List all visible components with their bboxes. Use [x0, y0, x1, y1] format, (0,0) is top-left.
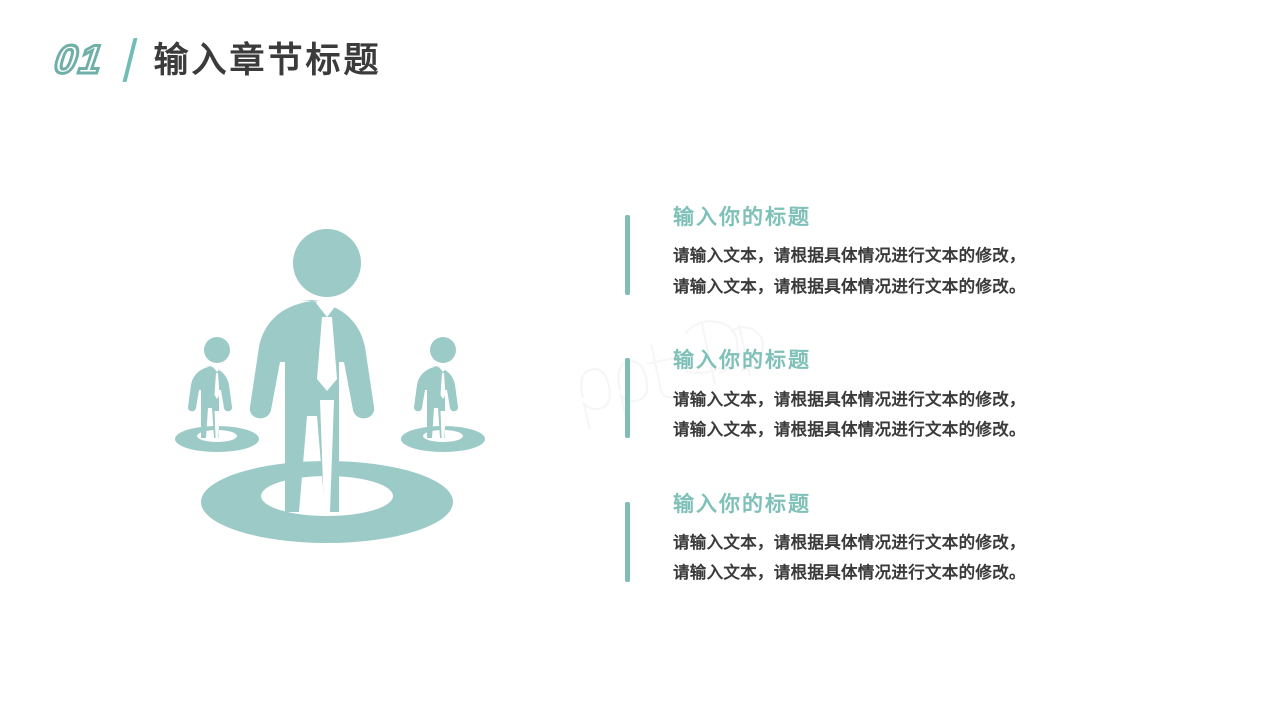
- accent-bar: [625, 358, 630, 438]
- block-heading: 输入你的标题: [673, 205, 1095, 231]
- block-body-line: 请输入文本，请根据具体情况进行文本的修改。: [673, 558, 1095, 589]
- content-block: 输入你的标题 请输入文本，请根据具体情况进行文本的修改， 请输入文本，请根据具体…: [625, 348, 1095, 445]
- header-slash-divider: [122, 38, 137, 82]
- section-number: 01: [52, 40, 106, 80]
- content-column: 输入你的标题 请输入文本，请根据具体情况进行文本的修改， 请输入文本，请根据具体…: [625, 205, 1095, 589]
- block-body-line: 请输入文本，请根据具体情况进行文本的修改，: [673, 528, 1095, 559]
- block-body-line: 请输入文本，请根据具体情况进行文本的修改，: [673, 385, 1095, 416]
- accent-bar: [625, 502, 630, 582]
- block-heading: 输入你的标题: [673, 492, 1095, 518]
- accent-bar: [625, 215, 630, 295]
- content-block: 输入你的标题 请输入文本，请根据具体情况进行文本的修改， 请输入文本，请根据具体…: [625, 492, 1095, 589]
- slide-header: 01 输入章节标题: [55, 30, 382, 90]
- block-body-line: 请输入文本，请根据具体情况进行文本的修改，: [673, 241, 1095, 272]
- slide-canvas: 01 输入章节标题: [0, 0, 1280, 720]
- business-team-people-icon: [155, 215, 505, 565]
- block-heading: 输入你的标题: [673, 348, 1095, 374]
- block-body-line: 请输入文本，请根据具体情况进行文本的修改。: [673, 415, 1095, 446]
- block-body-line: 请输入文本，请根据具体情况进行文本的修改。: [673, 272, 1095, 303]
- content-block: 输入你的标题 请输入文本，请根据具体情况进行文本的修改， 请输入文本，请根据具体…: [625, 205, 1095, 302]
- page-title: 输入章节标题: [154, 43, 382, 78]
